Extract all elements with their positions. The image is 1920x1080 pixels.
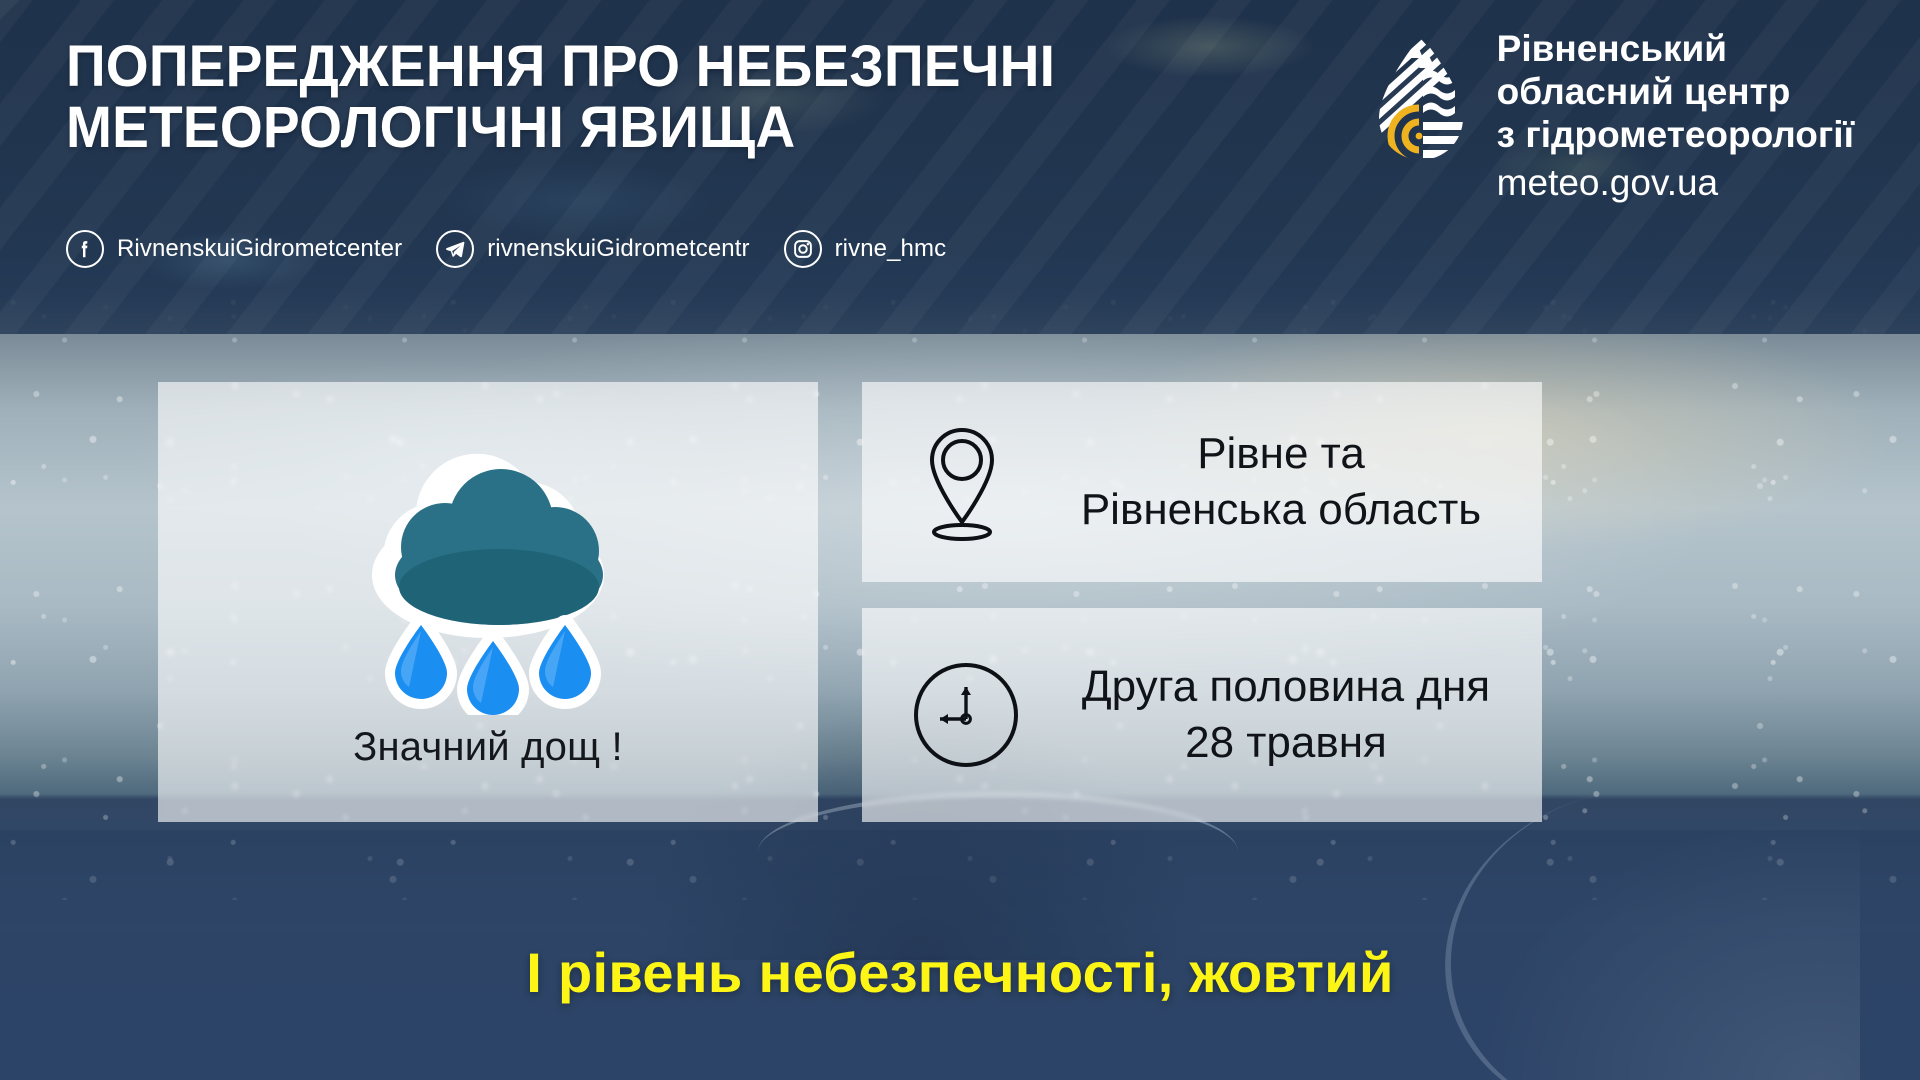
time-text: Друга половина дня 28 травня (1056, 659, 1516, 772)
facebook-icon (66, 230, 104, 268)
danger-level-banner: I рівень небезпечності, жовтий (0, 940, 1920, 1005)
time-line-1: Друга половина дня (1056, 659, 1516, 715)
map-pin-icon (914, 422, 1010, 542)
rain-cloud-icon (333, 435, 643, 715)
social-handle-telegram: rivnenskuiGidrometcentr (487, 235, 749, 263)
telegram-icon (436, 230, 474, 268)
location-card: Рівне та Рівненська область (862, 382, 1542, 582)
header-banner: ПОПЕРЕДЖЕННЯ ПРО НЕБЕЗПЕЧНІ МЕТЕОРОЛОГІЧ… (0, 0, 1920, 334)
location-line-1: Рівне та (1050, 426, 1512, 482)
social-link-instagram[interactable]: rivne_hmc (784, 230, 947, 268)
page-title-line-1: ПОПЕРЕДЖЕННЯ ПРО НЕБЕЗПЕЧНІ (66, 36, 1055, 97)
phenomenon-label: Значний дощ ! (353, 725, 623, 770)
location-line-2: Рівненська область (1050, 482, 1512, 538)
page-title-line-2: МЕТЕОРОЛОГІЧНІ ЯВИЩА (66, 97, 1055, 158)
location-text: Рівне та Рівненська область (1050, 426, 1512, 539)
time-card: Друга половина дня 28 травня (862, 608, 1542, 822)
clock-icon (910, 659, 1022, 771)
brand-line-3: з гідрометеорології (1497, 114, 1854, 157)
brand-line-1: Рівненський (1497, 28, 1854, 71)
phenomenon-card: Значний дощ ! (158, 382, 818, 822)
social-handle-facebook: RivnenskuiGidrometcenter (117, 235, 402, 263)
instagram-icon (784, 230, 822, 268)
brand-logo-block: Рівненський обласний центр з гідрометеор… (1367, 28, 1854, 205)
water-drop-logo-icon (1367, 34, 1475, 166)
page-title: ПОПЕРЕДЖЕННЯ ПРО НЕБЕЗПЕЧНІ МЕТЕОРОЛОГІЧ… (66, 36, 1055, 159)
social-link-telegram[interactable]: rivnenskuiGidrometcentr (436, 230, 749, 268)
brand-website-url[interactable]: meteo.gov.ua (1497, 161, 1854, 205)
time-line-2: 28 травня (1056, 715, 1516, 771)
social-handle-instagram: rivne_hmc (835, 235, 947, 263)
social-link-facebook[interactable]: RivnenskuiGidrometcenter (66, 230, 402, 268)
brand-text-block: Рівненський обласний центр з гідрометеор… (1497, 28, 1854, 205)
brand-line-2: обласний центр (1497, 71, 1854, 114)
social-links: RivnenskuiGidrometcenter rivnenskuiGidro… (66, 230, 946, 268)
